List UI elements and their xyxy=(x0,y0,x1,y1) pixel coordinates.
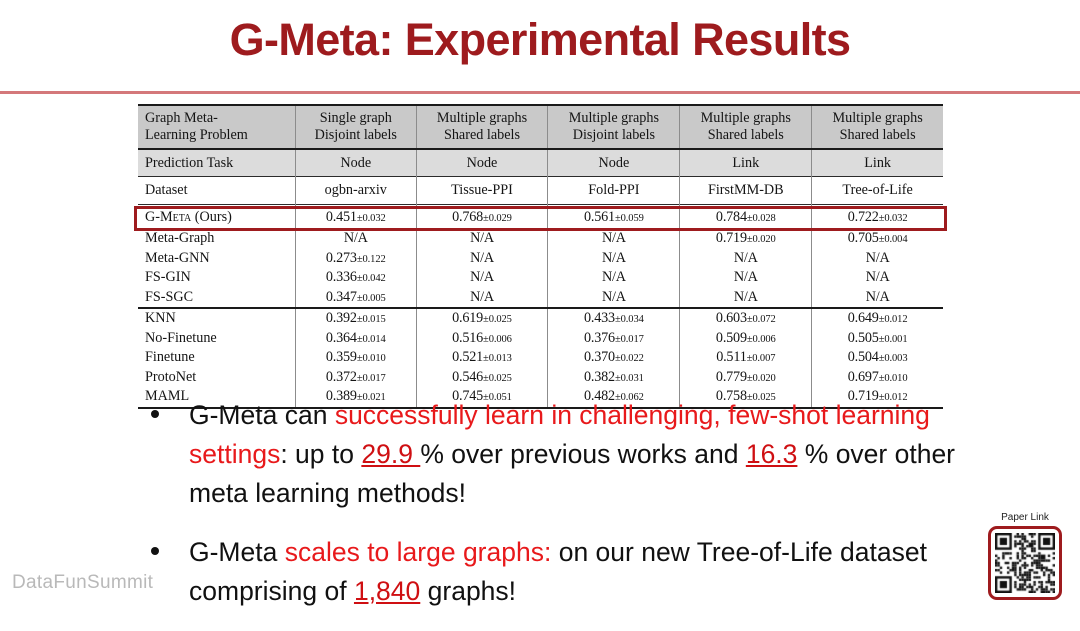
cell-value: 0.376 xyxy=(584,330,615,346)
cell-error: ±0.042 xyxy=(357,273,386,284)
table-cell: 0.392±0.015 xyxy=(296,309,417,329)
row-label: Prediction Task xyxy=(138,150,296,177)
table-row: Meta-GraphN/AN/AN/A0.719±0.0200.705±0.00… xyxy=(138,229,943,249)
cell-value: 0.372 xyxy=(326,369,357,385)
results-table-container: Graph Meta-Learning ProblemSingle graphD… xyxy=(138,104,943,409)
table-row: FS-GIN0.336±0.042N/AN/AN/AN/A xyxy=(138,268,943,288)
row-label: No-Finetune xyxy=(138,329,296,349)
table-cell: N/A xyxy=(548,288,680,309)
cell-value: N/A xyxy=(734,289,758,305)
title-divider xyxy=(0,91,1080,94)
table-cell: FirstMM-DB xyxy=(680,177,812,205)
cell-value: 0.697 xyxy=(848,369,879,385)
table-cell: Node xyxy=(548,150,680,177)
table-cell: Tissue-PPI xyxy=(416,177,548,205)
cell-error: ±0.017 xyxy=(615,334,644,345)
cell-error: ±0.122 xyxy=(357,254,386,265)
cell-value: N/A xyxy=(866,269,890,285)
gmeta-label-prefix: G- xyxy=(145,209,160,225)
cell-error: ±0.020 xyxy=(747,234,776,245)
table-cell: 0.603±0.072 xyxy=(680,309,812,329)
table-row: FS-SGC0.347±0.005N/AN/AN/AN/A xyxy=(138,288,943,309)
table-cell: ogbn-arxiv xyxy=(296,177,417,205)
table-cell: 0.546±0.025 xyxy=(416,368,548,388)
gmeta-label-suffix: (Ours) xyxy=(191,209,232,225)
column-header: Single graphDisjoint labels xyxy=(296,106,417,149)
cell-value: N/A xyxy=(734,269,758,285)
header-label-line1: Graph Meta- xyxy=(145,110,295,128)
cell-value: N/A xyxy=(866,289,890,305)
cell-value: N/A xyxy=(734,250,758,266)
bullet-text: graphs! xyxy=(420,576,516,606)
cell-value: 0.521 xyxy=(452,349,483,365)
column-header-line2: Disjoint labels xyxy=(296,127,416,145)
cell-value: N/A xyxy=(602,250,626,266)
table-cell: N/A xyxy=(296,229,417,249)
table-cell: Node xyxy=(296,150,417,177)
cell-value: 0.382 xyxy=(584,369,615,385)
cell-value: 0.505 xyxy=(848,330,879,346)
table-cell: N/A xyxy=(680,268,812,288)
bullet-text: % over previous works and xyxy=(420,439,746,469)
column-header-line1: Multiple graphs xyxy=(548,110,679,128)
cell-value: N/A xyxy=(470,269,494,285)
table-cell: 0.359±0.010 xyxy=(296,348,417,368)
bullet-text: G-Meta xyxy=(189,537,285,567)
cell-value: 0.347 xyxy=(326,289,357,305)
table-cell: 0.336±0.042 xyxy=(296,268,417,288)
table-row: Finetune0.359±0.0100.521±0.0130.370±0.02… xyxy=(138,348,943,368)
cell-value: 0.619 xyxy=(452,310,483,326)
column-header: Multiple graphsShared labels xyxy=(680,106,812,149)
bullet-text-emphasis: scales to large graphs: xyxy=(285,537,552,567)
bullet-text-metric: 1,840 xyxy=(354,576,420,606)
header-row-label: Graph Meta-Learning Problem xyxy=(138,106,296,149)
cell-value: 0.433 xyxy=(584,310,615,326)
cell-error: ±0.012 xyxy=(879,314,908,325)
cell-value: 0.364 xyxy=(326,330,357,346)
table-cell: N/A xyxy=(416,229,548,249)
cell-error: ±0.004 xyxy=(879,234,908,245)
table-row: ProtoNet0.372±0.0170.546±0.0250.382±0.03… xyxy=(138,368,943,388)
bullet-text-metric: 16.3 xyxy=(746,439,798,469)
cell-value: N/A xyxy=(866,250,890,266)
cell-error: ±0.001 xyxy=(879,334,908,345)
table-cell: 0.509±0.006 xyxy=(680,329,812,349)
cell-value: 0.705 xyxy=(848,230,879,246)
table-row: Meta-GNN0.273±0.122N/AN/AN/AN/A xyxy=(138,249,943,269)
table-cell: 0.521±0.013 xyxy=(416,348,548,368)
table-cell: N/A xyxy=(416,268,548,288)
gmeta-label-smallcaps: Meta xyxy=(160,209,191,225)
cell-error: ±0.010 xyxy=(357,353,386,364)
qr-code-icon[interactable] xyxy=(995,533,1055,593)
row-label: ProtoNet xyxy=(138,368,296,388)
row-label: Meta-GNN xyxy=(138,249,296,269)
paper-link-qr-block[interactable]: Paper Link xyxy=(982,512,1068,600)
table-cell: 0.372±0.017 xyxy=(296,368,417,388)
cell-error: ±0.031 xyxy=(615,373,644,384)
table-cell: 0.516±0.006 xyxy=(416,329,548,349)
cell-error: ±0.007 xyxy=(747,353,776,364)
cell-error: ±0.025 xyxy=(483,373,512,384)
cell-value: 0.768 xyxy=(452,209,483,225)
table-cell: N/A xyxy=(548,268,680,288)
cell-value: 0.273 xyxy=(326,250,357,266)
bullet-dot-icon xyxy=(151,547,159,555)
table-row: KNN0.392±0.0150.619±0.0250.433±0.0340.60… xyxy=(138,309,943,329)
cell-value: 0.504 xyxy=(848,349,879,365)
table-cell: Link xyxy=(812,150,943,177)
cell-value: 0.359 xyxy=(326,349,357,365)
cell-value: 0.779 xyxy=(716,369,747,385)
cell-error: ±0.003 xyxy=(879,353,908,364)
cell-error: ±0.034 xyxy=(615,314,644,325)
cell-error: ±0.029 xyxy=(483,213,512,224)
qr-caption: Paper Link xyxy=(982,512,1068,523)
cell-value: N/A xyxy=(602,289,626,305)
cell-value: 0.370 xyxy=(584,349,615,365)
table-row: No-Finetune0.364±0.0140.516±0.0060.376±0… xyxy=(138,329,943,349)
table-cell: 0.768±0.029 xyxy=(416,205,548,229)
cell-error: ±0.010 xyxy=(879,373,908,384)
cell-value: N/A xyxy=(602,269,626,285)
table-row: G-Meta (Ours)0.451±0.0320.768±0.0290.561… xyxy=(138,205,943,229)
cell-value: 0.392 xyxy=(326,310,357,326)
cell-value: 0.336 xyxy=(326,269,357,285)
cell-error: ±0.022 xyxy=(615,353,644,364)
row-label: KNN xyxy=(138,309,296,329)
table-cell: 0.382±0.031 xyxy=(548,368,680,388)
table-cell: 0.376±0.017 xyxy=(548,329,680,349)
table-cell: N/A xyxy=(548,249,680,269)
cell-value: 0.784 xyxy=(716,209,747,225)
table-cell: N/A xyxy=(548,229,680,249)
table-cell: 0.697±0.010 xyxy=(812,368,943,388)
cell-value: 0.722 xyxy=(848,209,879,225)
table-cell: N/A xyxy=(416,249,548,269)
table-cell: 0.451±0.032 xyxy=(296,205,417,229)
qr-frame[interactable] xyxy=(988,526,1062,600)
table-cell: N/A xyxy=(680,249,812,269)
cell-error: ±0.020 xyxy=(747,373,776,384)
column-header-line1: Multiple graphs xyxy=(680,110,811,128)
table-cell: 0.504±0.003 xyxy=(812,348,943,368)
bullet-dot-icon xyxy=(151,410,159,418)
cell-value: 0.649 xyxy=(848,310,879,326)
cell-error: ±0.005 xyxy=(357,293,386,304)
table-cell: 0.705±0.004 xyxy=(812,229,943,249)
bullet-item: G-Meta can successfully learn in challen… xyxy=(143,396,973,513)
table-cell: 0.619±0.025 xyxy=(416,309,548,329)
row-label: Dataset xyxy=(138,177,296,205)
table-cell: N/A xyxy=(416,288,548,309)
header-label-line2: Learning Problem xyxy=(145,127,295,145)
cell-error: ±0.017 xyxy=(357,373,386,384)
table-cell: 0.505±0.001 xyxy=(812,329,943,349)
column-header-line1: Single graph xyxy=(296,110,416,128)
gmeta-row-label: G-Meta (Ours) xyxy=(145,209,232,225)
cell-error: ±0.032 xyxy=(879,213,908,224)
column-header: Multiple graphsShared labels xyxy=(416,106,548,149)
column-header: Multiple graphsDisjoint labels xyxy=(548,106,680,149)
row-label: FS-GIN xyxy=(138,268,296,288)
cell-value: 0.719 xyxy=(716,230,747,246)
table-cell: N/A xyxy=(812,268,943,288)
page-title: G-Meta: Experimental Results xyxy=(0,14,1080,66)
bullet-item: G-Meta scales to large graphs: on our ne… xyxy=(143,533,973,611)
table-cell: Node xyxy=(416,150,548,177)
cell-value: N/A xyxy=(344,230,368,246)
cell-value: N/A xyxy=(470,230,494,246)
cell-value: 0.451 xyxy=(326,209,357,225)
table-cell: 0.273±0.122 xyxy=(296,249,417,269)
cell-error: ±0.028 xyxy=(747,213,776,224)
table-cell: 0.511±0.007 xyxy=(680,348,812,368)
bullet-text: G-Meta can xyxy=(189,400,335,430)
table-cell: 0.722±0.032 xyxy=(812,205,943,229)
cell-error: ±0.006 xyxy=(483,334,512,345)
table-cell: 0.347±0.005 xyxy=(296,288,417,309)
table-cell: N/A xyxy=(812,288,943,309)
table-cell: Fold-PPI xyxy=(548,177,680,205)
row-label: G-Meta (Ours) xyxy=(138,205,296,229)
cell-error: ±0.014 xyxy=(357,334,386,345)
table-cell: 0.784±0.028 xyxy=(680,205,812,229)
watermark-logo: DataFunSummit xyxy=(12,572,153,594)
table-cell: N/A xyxy=(812,249,943,269)
table-cell: 0.364±0.014 xyxy=(296,329,417,349)
bullet-text: : up to xyxy=(280,439,361,469)
cell-value: 0.546 xyxy=(452,369,483,385)
cell-error: ±0.025 xyxy=(483,314,512,325)
table-cell: 0.433±0.034 xyxy=(548,309,680,329)
column-header: Multiple graphsShared labels xyxy=(812,106,943,149)
cell-value: 0.561 xyxy=(584,209,615,225)
table-cell: 0.370±0.022 xyxy=(548,348,680,368)
table-cell: Link xyxy=(680,150,812,177)
results-table: Graph Meta-Learning ProblemSingle graphD… xyxy=(138,104,943,409)
cell-error: ±0.059 xyxy=(615,213,644,224)
table-cell: Tree-of-Life xyxy=(812,177,943,205)
row-label: Finetune xyxy=(138,348,296,368)
column-header-line1: Multiple graphs xyxy=(812,110,943,128)
dataset-row: Datasetogbn-arxivTissue-PPIFold-PPIFirst… xyxy=(138,177,943,205)
table-cell: 0.649±0.012 xyxy=(812,309,943,329)
column-header-line1: Multiple graphs xyxy=(417,110,548,128)
cell-value: 0.516 xyxy=(452,330,483,346)
table-cell: 0.779±0.020 xyxy=(680,368,812,388)
cell-value: 0.511 xyxy=(716,349,746,365)
column-header-line2: Shared labels xyxy=(812,127,943,145)
row-label: FS-SGC xyxy=(138,288,296,309)
cell-error: ±0.015 xyxy=(357,314,386,325)
cell-error: ±0.013 xyxy=(483,353,512,364)
row-label: Meta-Graph xyxy=(138,229,296,249)
column-header-line2: Shared labels xyxy=(680,127,811,145)
column-header-line2: Shared labels xyxy=(417,127,548,145)
bullet-text-metric: 29.9 xyxy=(361,439,420,469)
cell-error: ±0.072 xyxy=(747,314,776,325)
cell-value: N/A xyxy=(470,289,494,305)
prediction-task-row: Prediction TaskNodeNodeNodeLinkLink xyxy=(138,150,943,177)
table-cell: N/A xyxy=(680,288,812,309)
cell-value: N/A xyxy=(470,250,494,266)
cell-value: 0.603 xyxy=(716,310,747,326)
column-header-line2: Disjoint labels xyxy=(548,127,679,145)
cell-value: N/A xyxy=(602,230,626,246)
cell-value: 0.509 xyxy=(716,330,747,346)
table-cell: 0.561±0.059 xyxy=(548,205,680,229)
bullet-list: G-Meta can successfully learn in challen… xyxy=(143,396,973,631)
table-cell: 0.719±0.020 xyxy=(680,229,812,249)
cell-error: ±0.032 xyxy=(357,213,386,224)
cell-error: ±0.006 xyxy=(747,334,776,345)
table-header-row: Graph Meta-Learning ProblemSingle graphD… xyxy=(138,106,943,149)
